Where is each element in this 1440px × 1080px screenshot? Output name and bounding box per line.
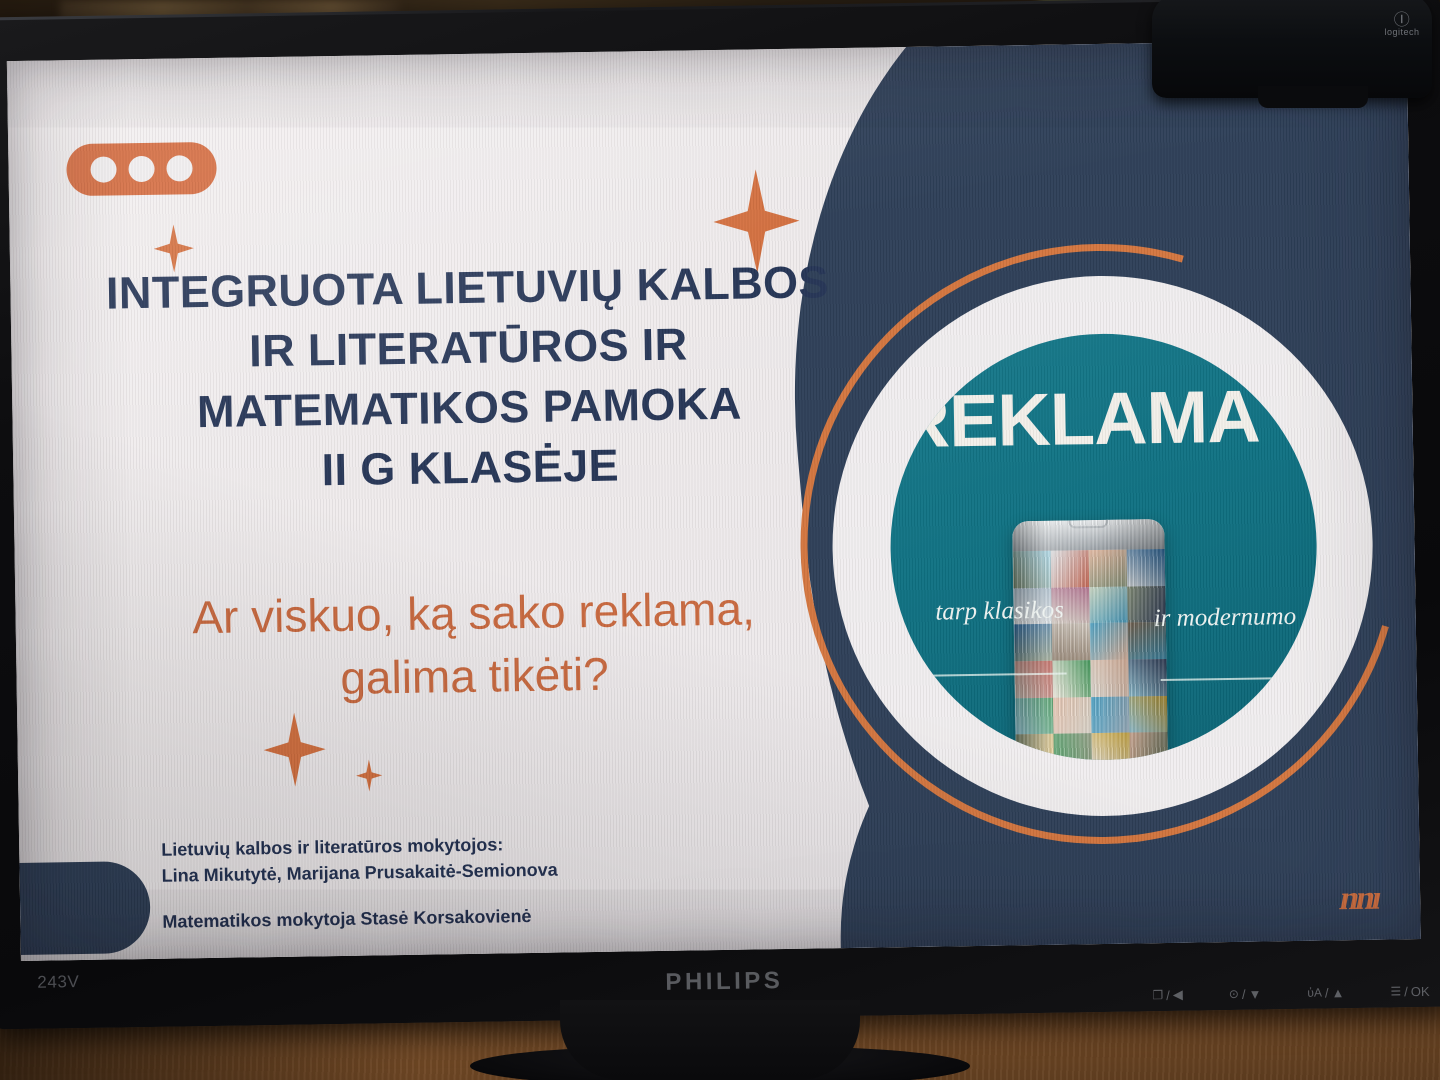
- slide-image-caption-left: tarp klasikos: [929, 596, 1069, 625]
- webcam-brand-logo: Ⓘ logitech: [1376, 14, 1428, 44]
- sparkle-icon-3: [263, 712, 326, 787]
- osd-button-picture-left[interactable]: ❐/◀: [1152, 987, 1183, 1003]
- monitor-stand-neck: [560, 1000, 860, 1080]
- slide-corner-logo-mark: nnı: [1336, 880, 1382, 919]
- slide-image-heading: REKLAMA -: [896, 372, 1320, 464]
- osd-glyph-menu-ok: ☰: [1390, 984, 1401, 998]
- osd-glyph-input-down: ⊙: [1229, 987, 1239, 1001]
- logo-dot-2: [128, 156, 154, 182]
- slide-title-line: II G KLASĖJE: [75, 431, 866, 503]
- logitech-wordmark: logitech: [1384, 27, 1419, 37]
- osd-button-input-down[interactable]: ⊙/▼: [1229, 986, 1262, 1002]
- webcam-mount-foot: [1258, 86, 1368, 108]
- osd-button-volume-up[interactable]: ὐA/▲: [1307, 985, 1344, 1001]
- monitor: REKLAMA - tarp klasikos ir modernumo: [0, 0, 1440, 1029]
- presentation-slide: REKLAMA - tarp klasikos ir modernumo: [7, 39, 1421, 961]
- logo-pill-icon: [66, 142, 217, 196]
- slide-title: INTEGRUOTA LIETUVIŲ KALBOSIR LITERATŪROS…: [72, 252, 866, 504]
- osd-arrow-picture-left: ◀: [1173, 987, 1183, 1003]
- logo-dot-1: [90, 156, 116, 182]
- osd-arrow-volume-up: ▲: [1331, 985, 1344, 1000]
- can-screen-texture: [1012, 519, 1168, 763]
- sparkle-icon-4: [356, 759, 382, 791]
- monitor-screen: REKLAMA - tarp klasikos ir modernumo: [7, 39, 1421, 961]
- osd-glyph-picture-left: ❐: [1152, 988, 1163, 1002]
- slide-title-line: INTEGRUOTA LIETUVIŲ KALBOS: [72, 252, 863, 324]
- osd-glyph-volume-up: ὐA: [1307, 986, 1322, 1000]
- slide-image-caption-right: ir modernumo: [1154, 602, 1320, 632]
- osd-arrow-input-down: ▼: [1248, 986, 1261, 1001]
- slide-credits: Lietuvių kalbos ir literatūros mokytojos…: [161, 827, 802, 935]
- navy-tab-shape: [7, 861, 151, 956]
- logo-dot-3: [166, 155, 192, 181]
- osd-button-menu-ok[interactable]: ☰/OK: [1390, 983, 1429, 999]
- photo-scene: REKLAMA - tarp klasikos ir modernumo: [0, 0, 1440, 1080]
- logitech-swirl-icon: Ⓘ: [1376, 14, 1428, 27]
- collage-can-illustration: [1012, 519, 1168, 763]
- slide-subtitle: Ar viskuo, ką sako reklama, galima tikėt…: [123, 576, 825, 714]
- osd-arrow-menu-ok: OK: [1411, 983, 1430, 998]
